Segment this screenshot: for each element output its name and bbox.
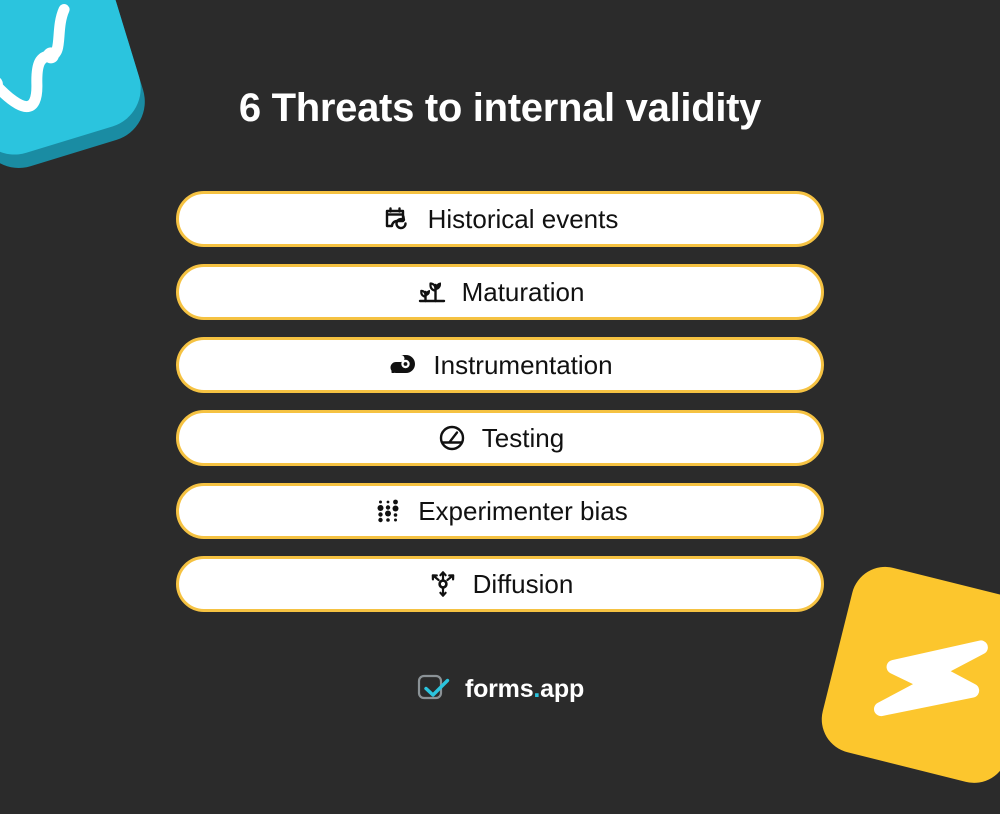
forms-app-check-icon <box>416 672 456 706</box>
threat-card-label: Experimenter bias <box>418 498 628 524</box>
footer-logo[interactable]: forms.app <box>0 672 1000 706</box>
threat-card-label: Maturation <box>462 279 585 305</box>
threat-card-diffusion[interactable]: Diffusion <box>176 556 824 612</box>
brand-suffix: app <box>540 675 584 703</box>
calendar-history-icon <box>382 203 414 235</box>
threat-card-label: Historical events <box>428 206 619 232</box>
threat-card-label: Testing <box>482 425 564 451</box>
brand-name: forms <box>465 675 533 703</box>
threat-card-list: Historical events Maturation In <box>176 191 824 612</box>
seedlings-growth-icon <box>416 276 448 308</box>
dot-matrix-icon <box>372 495 404 527</box>
brand-wordmark: forms.app <box>465 677 584 702</box>
spread-arrows-icon <box>427 568 459 600</box>
threat-card-testing[interactable]: Testing <box>176 410 824 466</box>
tape-measure-icon <box>387 349 419 381</box>
threat-card-instrumentation[interactable]: Instrumentation <box>176 337 824 393</box>
threat-card-maturation[interactable]: Maturation <box>176 264 824 320</box>
threat-card-historical-events[interactable]: Historical events <box>176 191 824 247</box>
threat-card-experimenter-bias[interactable]: Experimenter bias <box>176 483 824 539</box>
gauge-icon <box>436 422 468 454</box>
page-title: 6 Threats to internal validity <box>0 86 1000 131</box>
threat-card-label: Diffusion <box>473 571 574 597</box>
threat-card-label: Instrumentation <box>433 352 612 378</box>
